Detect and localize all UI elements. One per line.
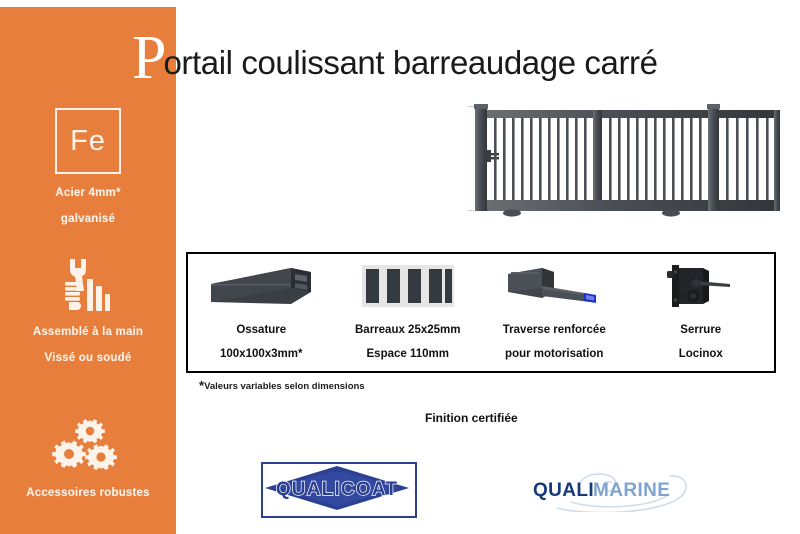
feature-barreaux: Barreaux 25x25mm Espace 110mm (335, 254, 482, 371)
qualicoat-wordmark: QUALICOAT (276, 479, 398, 500)
fe-badge-label: Fe (70, 127, 106, 156)
sliding-gate-illustration (466, 92, 784, 220)
feature-barreaux-line1: Barreaux 25x25mm (355, 323, 461, 338)
feature-serrure: Serrure Locinox (628, 254, 775, 371)
feature-serrure-line2: Locinox (679, 347, 723, 362)
sidebar-item-assembly: Assemblé à la main Vissé ou soudé (0, 257, 176, 367)
sidebar-item-assembly-line2: Vissé ou soudé (0, 350, 176, 367)
title-dropcap: P (132, 29, 165, 87)
page-title: P ortail coulissant barreaudage carré (132, 25, 658, 87)
footnote: *Valeurs variables selon dimensions (199, 381, 365, 392)
sidebar-item-assembly-line1: Assemblé à la main (0, 324, 176, 341)
qualimarine-wordmark-b: MARINE (593, 480, 670, 501)
motorisation-crossbeam-icon (498, 261, 610, 311)
features-box: Ossature 100x100x3mm* Barreaux 25x25mm E… (186, 252, 776, 373)
footnote-text: Valeurs variables selon dimensions (204, 381, 365, 392)
qualimarine-wordmark-a: QUALI (533, 480, 594, 501)
lock-icon (656, 261, 746, 311)
square-bars-icon (360, 261, 456, 311)
sidebar-item-material: Fe Acier 4mm* galvanisé (0, 108, 176, 228)
wrench-hand-icon (0, 257, 176, 315)
sidebar-item-accessories-line1: Accessoires robustes (0, 485, 176, 502)
feature-traverse-line1: Traverse renforcée (503, 323, 606, 338)
sidebar-item-material-line2: galvanisé (0, 211, 176, 228)
feature-serrure-line1: Serrure (680, 323, 721, 338)
feature-ossature: Ossature 100x100x3mm* (188, 254, 335, 371)
datasheet-page: Fe Acier 4mm* galvanisé (0, 0, 800, 534)
fe-element-icon: Fe (55, 108, 121, 174)
feature-ossature-line1: Ossature (236, 323, 286, 338)
sidebar-item-material-line1: Acier 4mm* (0, 185, 176, 202)
qualimarine-logo: QUALI MARINE (527, 468, 702, 512)
feature-traverse-line2: pour motorisation (505, 347, 603, 362)
feature-ossature-line2: 100x100x3mm* (220, 347, 303, 362)
title-text: ortail coulissant barreaudage carré (163, 43, 657, 83)
gears-icon (0, 412, 176, 476)
frame-profile-icon (207, 261, 315, 311)
sidebar-item-accessories: Accessoires robustes (0, 412, 176, 502)
feature-traverse: Traverse renforcée pour motorisation (481, 254, 628, 371)
qualicoat-logo: QUALICOAT (261, 462, 417, 518)
certification-heading: Finition certifiée (425, 411, 518, 425)
feature-barreaux-line2: Espace 110mm (367, 347, 449, 362)
